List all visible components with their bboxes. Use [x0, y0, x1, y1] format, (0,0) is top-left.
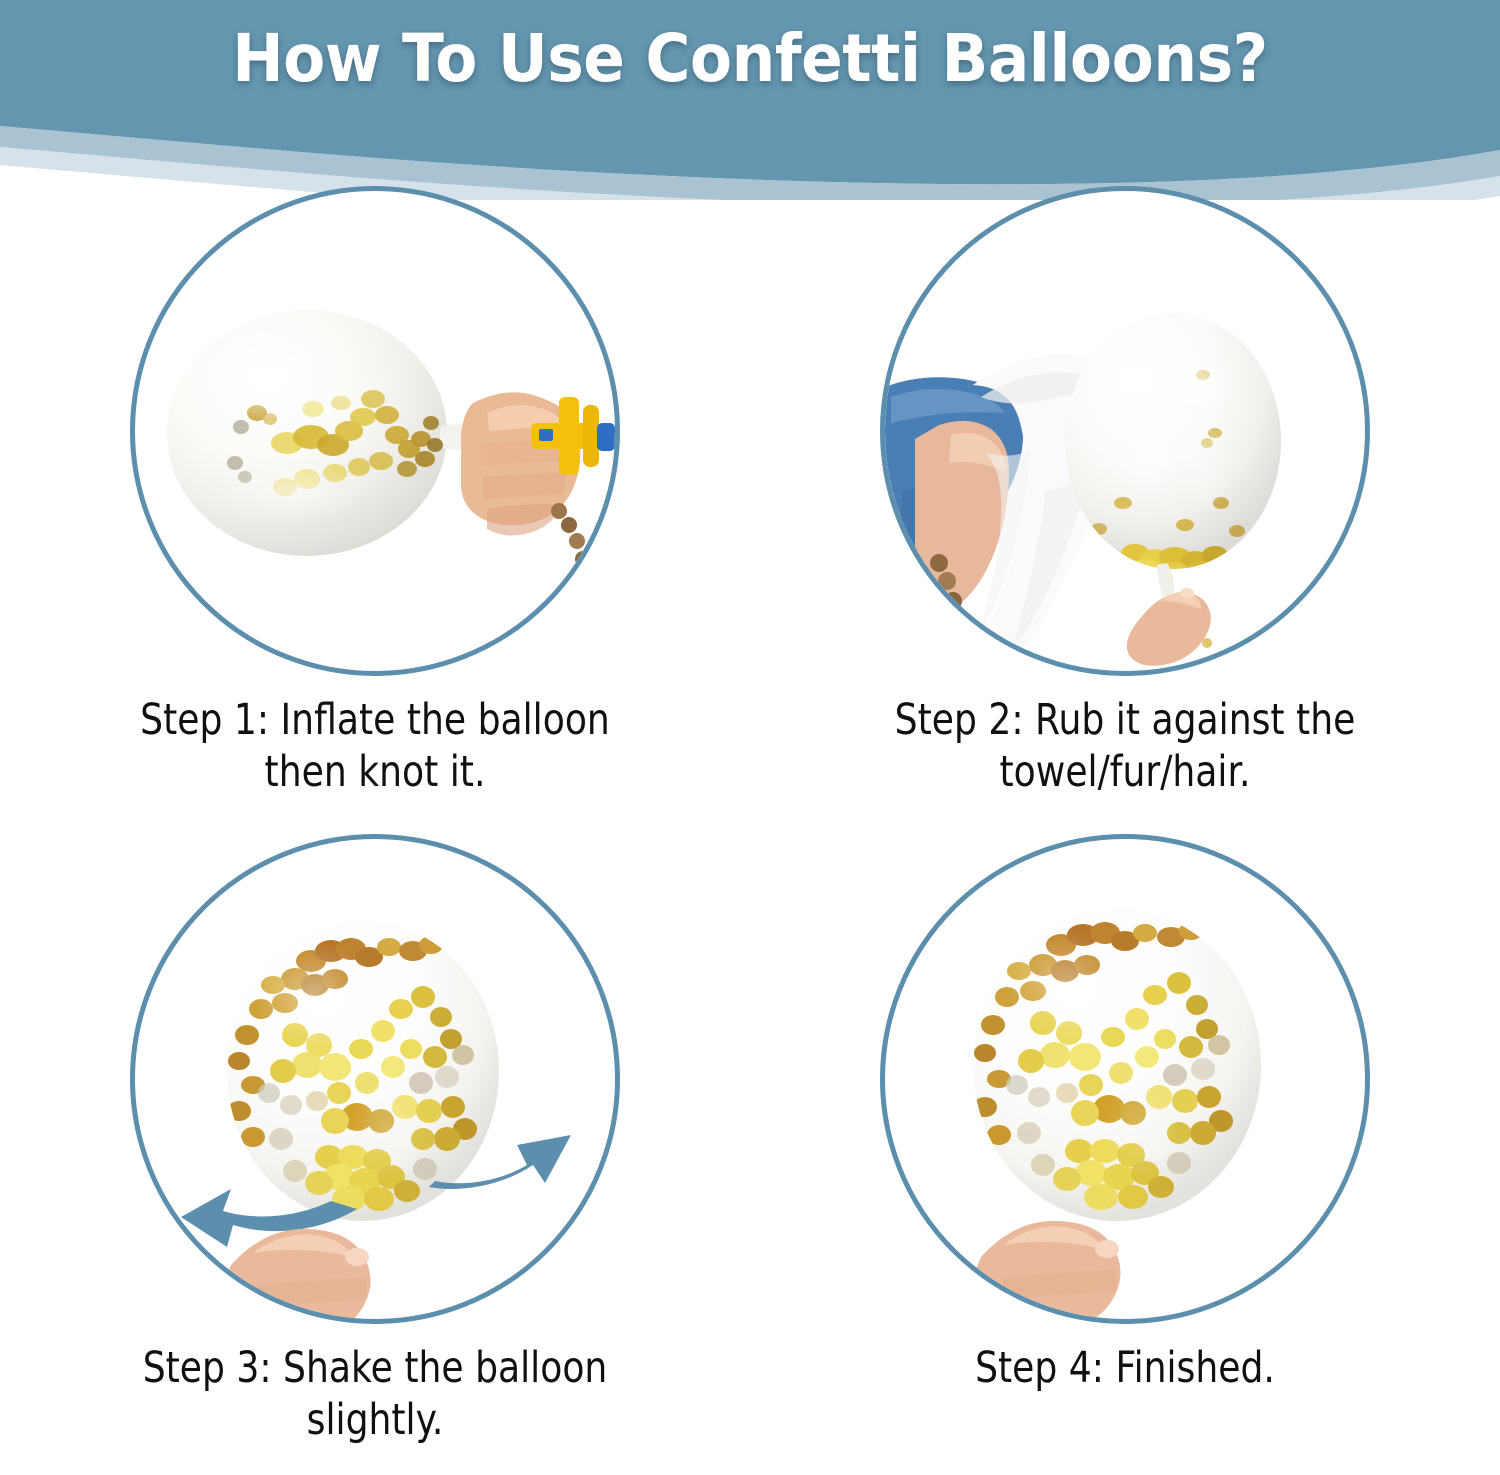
step-3-scene	[135, 839, 615, 1319]
balloon-highlight-2	[221, 461, 369, 521]
step-cell-1: Step 1: Inflate the balloon then knot it…	[0, 186, 750, 834]
shaking-balloon-illustration	[135, 839, 615, 1319]
step-cell-4: Step 4: Finished.	[750, 834, 1500, 1475]
step-cell-3: Step 3: Shake the balloon slightly.	[0, 834, 750, 1475]
balloon-highlight	[205, 339, 329, 419]
hand-holding-balloon-4	[972, 1221, 1121, 1319]
step-4-caption: Step 4: Finished.	[835, 1342, 1415, 1394]
step-2-scene	[885, 191, 1365, 671]
step-1-scene	[135, 191, 615, 671]
rubbing-balloon-illustration	[885, 191, 1365, 671]
beaded-bracelet	[551, 503, 595, 585]
steps-grid: Step 1: Inflate the balloon then knot it…	[0, 186, 1500, 1475]
step-2-image-circle	[880, 186, 1370, 676]
step-2-caption: Step 2: Rub it against the towel/fur/hai…	[835, 694, 1415, 799]
hand-holding-balloon-3	[222, 1229, 371, 1319]
hand-pinching-balloon	[1127, 588, 1212, 666]
step-4-image-circle	[880, 834, 1370, 1324]
inflating-balloon-illustration	[135, 191, 615, 671]
step-3-image-circle	[130, 834, 620, 1324]
header-banner: How To Use Confetti Balloons?	[0, 0, 1500, 200]
fingernail	[345, 1248, 369, 1266]
fingernail-4	[1095, 1240, 1119, 1258]
step-4-scene	[885, 839, 1365, 1319]
page-title: How To Use Confetti Balloons?	[53, 26, 1448, 92]
step-3-caption: Step 3: Shake the balloon slightly.	[85, 1342, 665, 1447]
finished-balloon-illustration	[885, 839, 1365, 1319]
step-1-image-circle	[130, 186, 620, 676]
step-cell-2: Step 2: Rub it against the towel/fur/hai…	[750, 186, 1500, 834]
ring	[1202, 638, 1212, 648]
step-1-caption: Step 1: Inflate the balloon then knot it…	[85, 694, 665, 799]
